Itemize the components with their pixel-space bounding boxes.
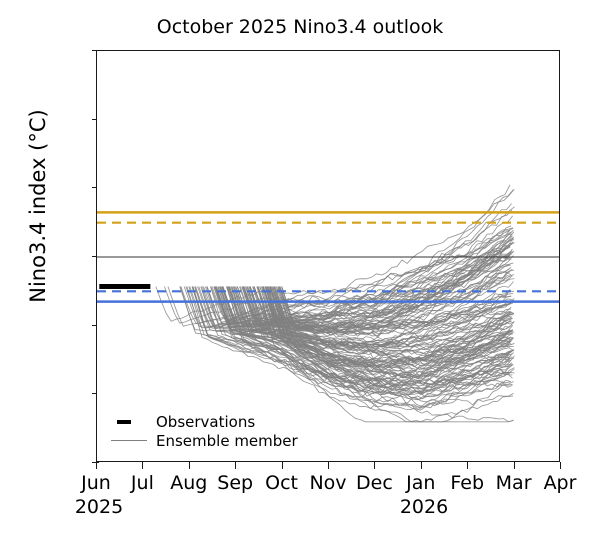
x-tick-mark xyxy=(142,462,143,469)
figure-canvas: October 2025 Nino3.4 outlook Nino3.4 ind… xyxy=(0,0,600,540)
x-tick-mark xyxy=(467,462,468,469)
observations-line-icon xyxy=(110,416,148,428)
x-tick-mark xyxy=(282,462,283,469)
x-tick-mark xyxy=(189,462,190,469)
x-tick-mark xyxy=(374,462,375,469)
x-tick-mark xyxy=(328,462,329,469)
plot-area xyxy=(96,50,560,462)
x-year-label-2026: 2026 xyxy=(374,496,474,518)
x-year-label-2025: 2025 xyxy=(49,496,149,518)
x-tick-mark xyxy=(96,462,97,469)
ensemble-members-group xyxy=(156,185,515,422)
legend-label-ensemble: Ensemble member xyxy=(156,432,298,450)
x-tick-mark xyxy=(514,462,515,469)
legend: Observations Ensemble member xyxy=(110,412,330,450)
x-tick-mark xyxy=(560,462,561,469)
legend-item-ensemble: Ensemble member xyxy=(110,431,330,450)
legend-item-observations: Observations xyxy=(110,412,330,431)
x-tick-mark xyxy=(421,462,422,469)
plot-svg xyxy=(97,51,560,462)
y-axis-label: Nino3.4 index (°C) xyxy=(26,6,50,406)
x-tick-label-apr: Apr xyxy=(520,472,600,494)
page-title: October 2025 Nino3.4 outlook xyxy=(0,16,600,38)
ensemble-line-icon xyxy=(110,435,148,447)
x-tick-mark xyxy=(235,462,236,469)
legend-label-observations: Observations xyxy=(156,413,255,431)
